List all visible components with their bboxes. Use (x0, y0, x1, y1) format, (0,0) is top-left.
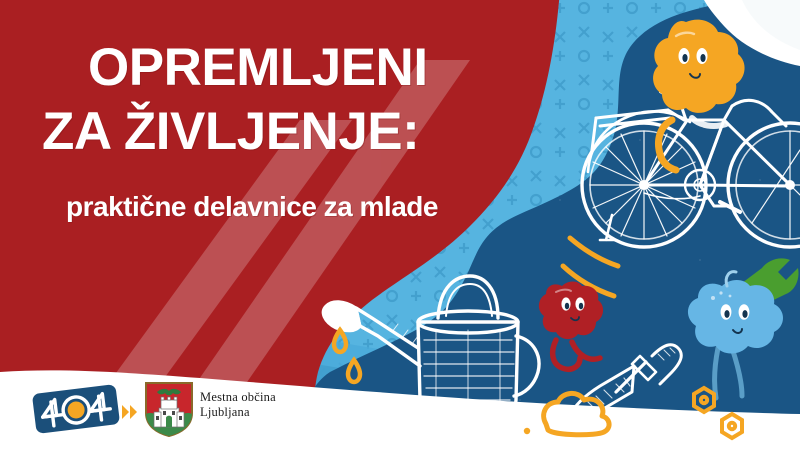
footer-logos: Mestna občina Ljubljana (0, 372, 800, 450)
404-logo[interactable] (30, 381, 140, 437)
red-blob-character (539, 282, 603, 370)
organization-line-1: Mestna občina (200, 390, 276, 405)
double-chevron-right-icon (122, 405, 137, 419)
orange-blob-character (653, 20, 745, 170)
organization-name: Mestna občina Ljubljana (200, 390, 276, 420)
organization-line-2: Ljubljana (200, 405, 276, 420)
ljubljana-coat-of-arms-icon[interactable] (143, 380, 195, 438)
promotional-poster: OPREMLJENI ZA ŽIVLJENJE: praktične delav… (0, 0, 800, 450)
